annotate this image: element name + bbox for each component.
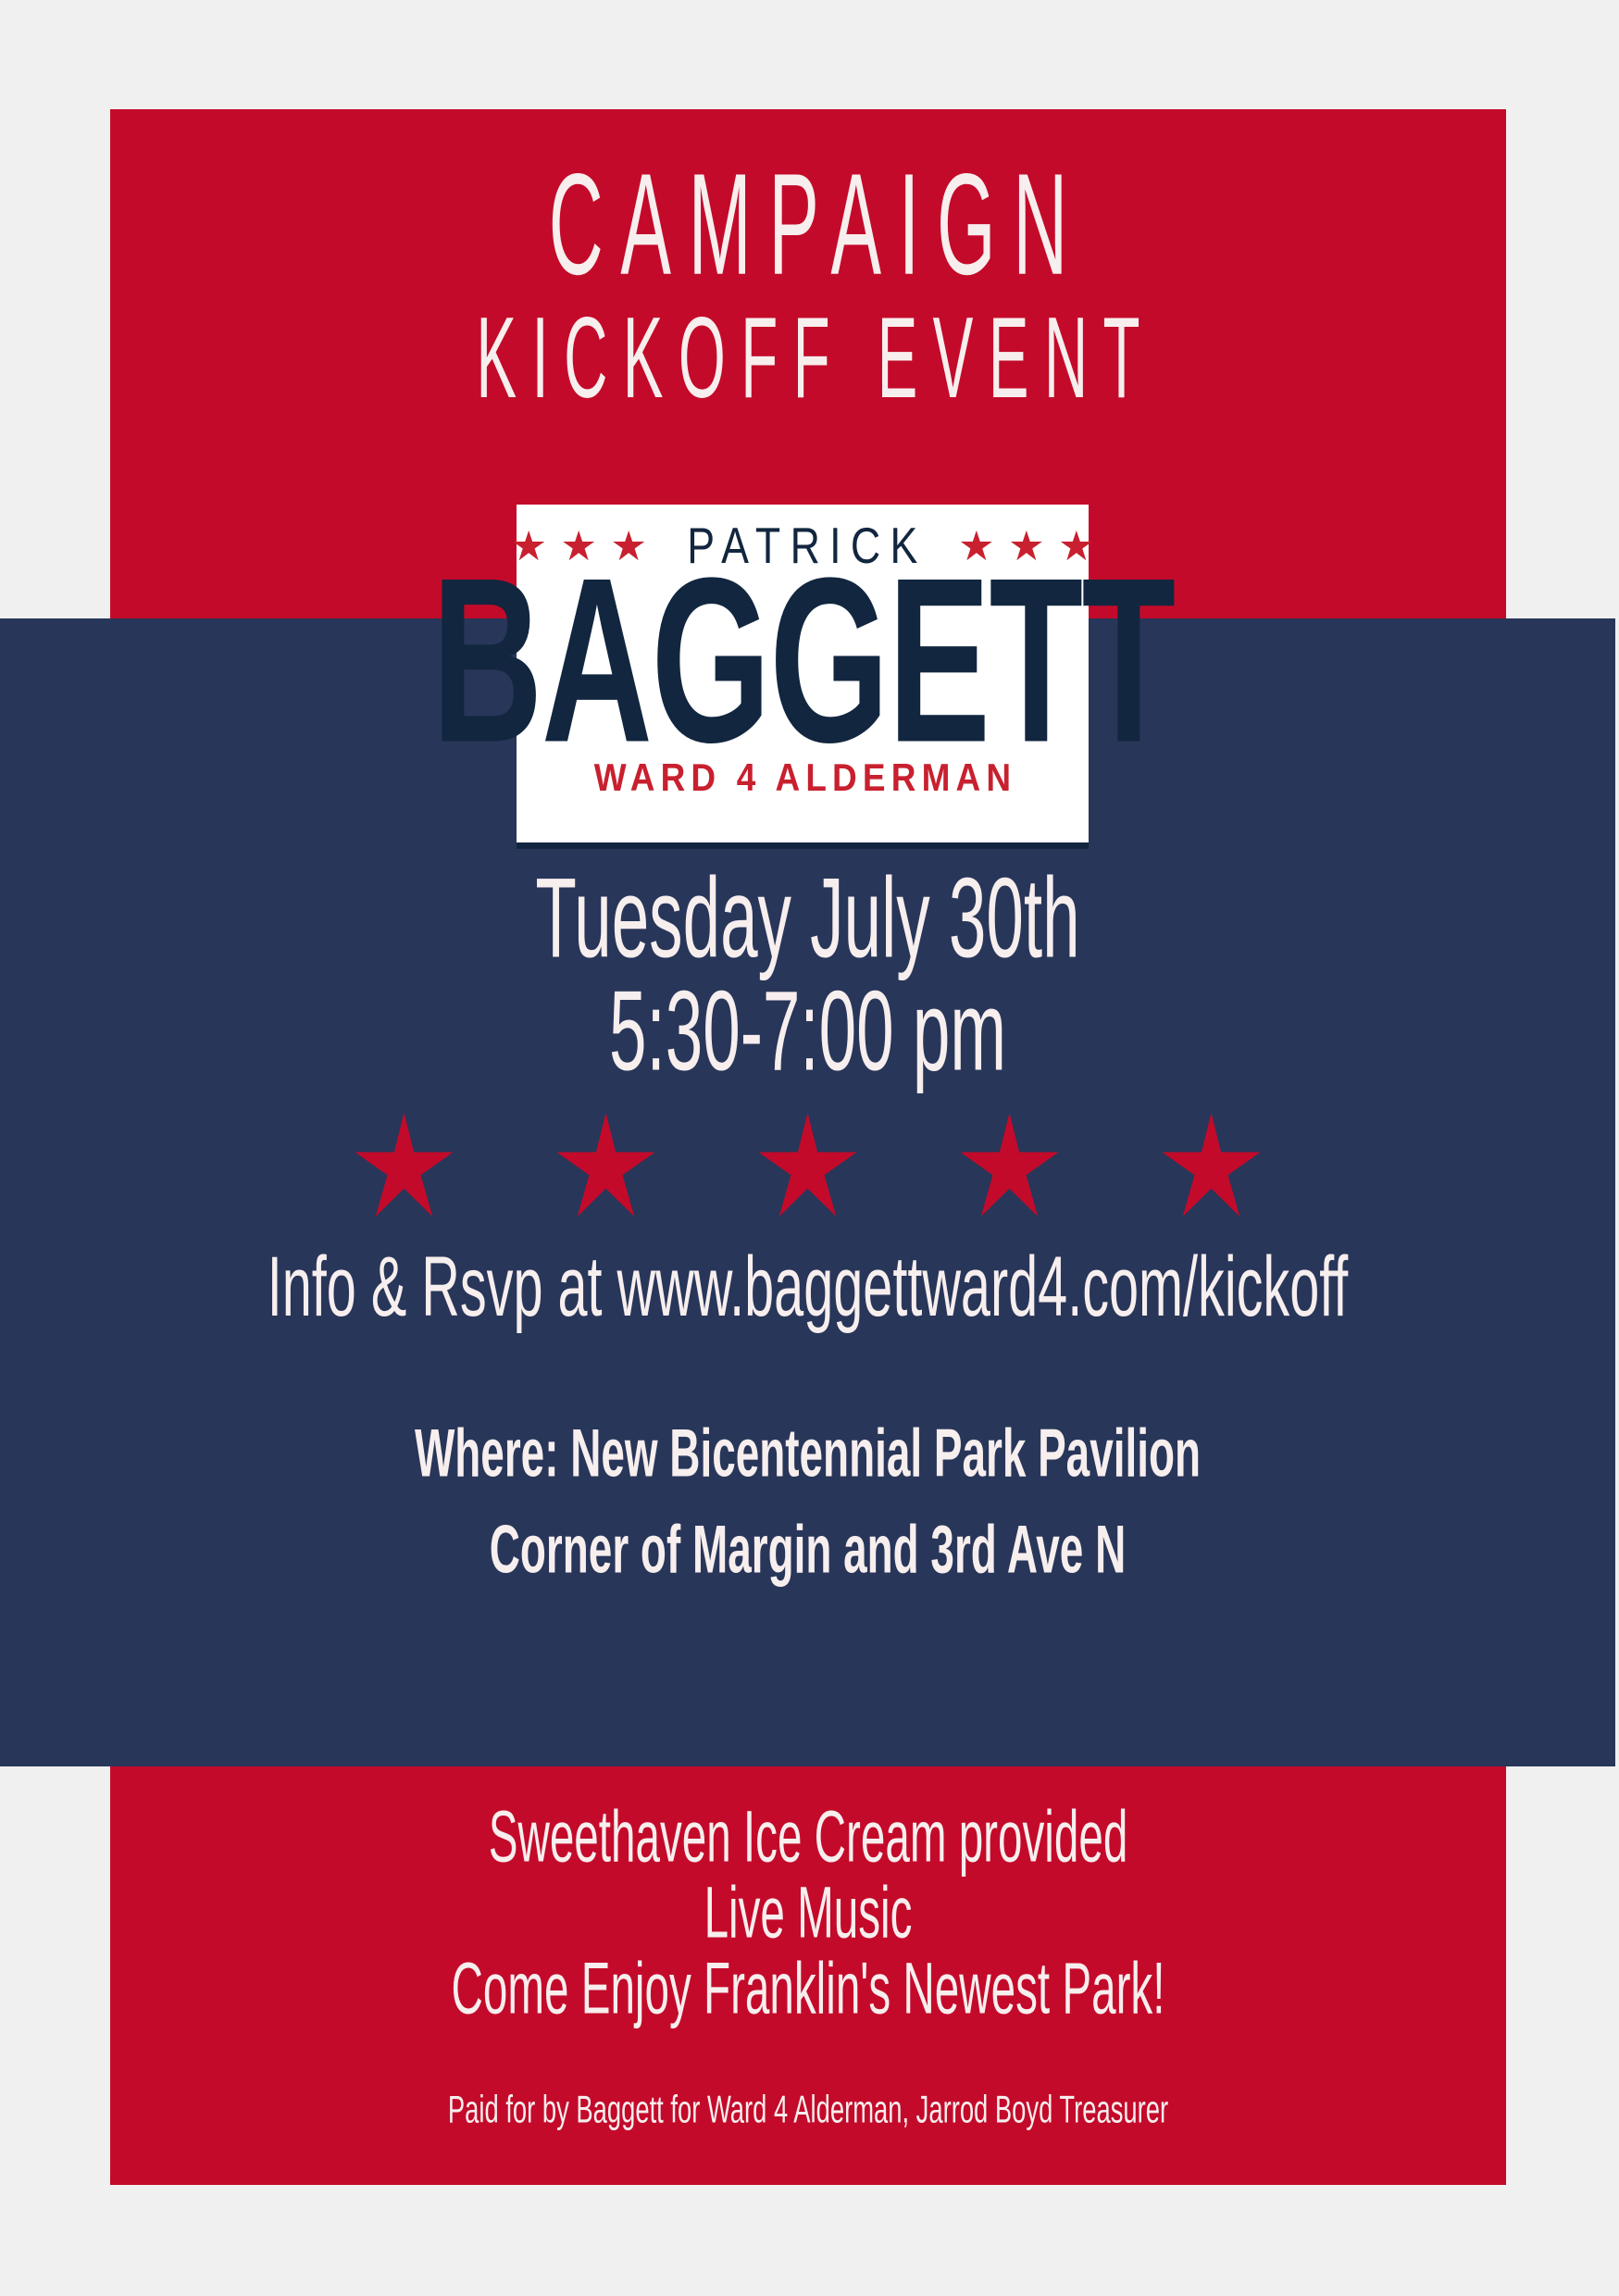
venue-name: Where: New Bicentennial Park Pavilion <box>210 1420 1405 1488</box>
paid-for-by-disclaimer: Paid for by Baggett for Ward 4 Alderman,… <box>292 2090 1325 2128</box>
rsvp-link[interactable]: Info & Rsvp at www.baggettward4.com/kick… <box>226 1244 1389 1329</box>
perk-item: Live Music <box>319 1877 1297 1950</box>
perk-item: Sweethaven Ice Cream provided <box>319 1801 1297 1874</box>
star-icon <box>961 1113 1059 1217</box>
logo-last-name: BAGGETT <box>431 563 1174 760</box>
venue-address: Corner of Margin and 3rd Ave N <box>210 1516 1405 1584</box>
event-perks: Sweethaven Ice Cream provided Live Music… <box>110 1805 1506 2127</box>
headline-group: CAMPAIGN KICKOFF EVENT <box>110 148 1506 399</box>
star-icon <box>557 1113 655 1217</box>
event-date: Tuesday July 30th <box>243 862 1374 976</box>
star-icon <box>1163 1113 1261 1217</box>
star-icon <box>355 1113 454 1217</box>
logo-office-title: WARD 4 ALDERMAN <box>589 755 1017 800</box>
star-divider <box>0 1113 1615 1217</box>
event-details: Tuesday July 30th 5:30-7:00 pm Info & Rs… <box>0 870 1615 1579</box>
star-icon <box>759 1113 857 1217</box>
logo-bottom-rule <box>517 842 1089 849</box>
headline-campaign: CAMPAIGN <box>376 148 1241 301</box>
campaign-logo: PATRICK BAGGETT WARD 4 ALDERMAN <box>517 505 1089 849</box>
headline-kickoff-event: KICKOFF EVENT <box>368 298 1248 419</box>
perk-item: Come Enjoy Franklin's Newest Park! <box>319 1953 1297 2026</box>
campaign-flyer: CAMPAIGN KICKOFF EVENT PATRICK BAGGETT W… <box>0 0 1619 2296</box>
event-time: 5:30-7:00 pm <box>243 975 1374 1089</box>
